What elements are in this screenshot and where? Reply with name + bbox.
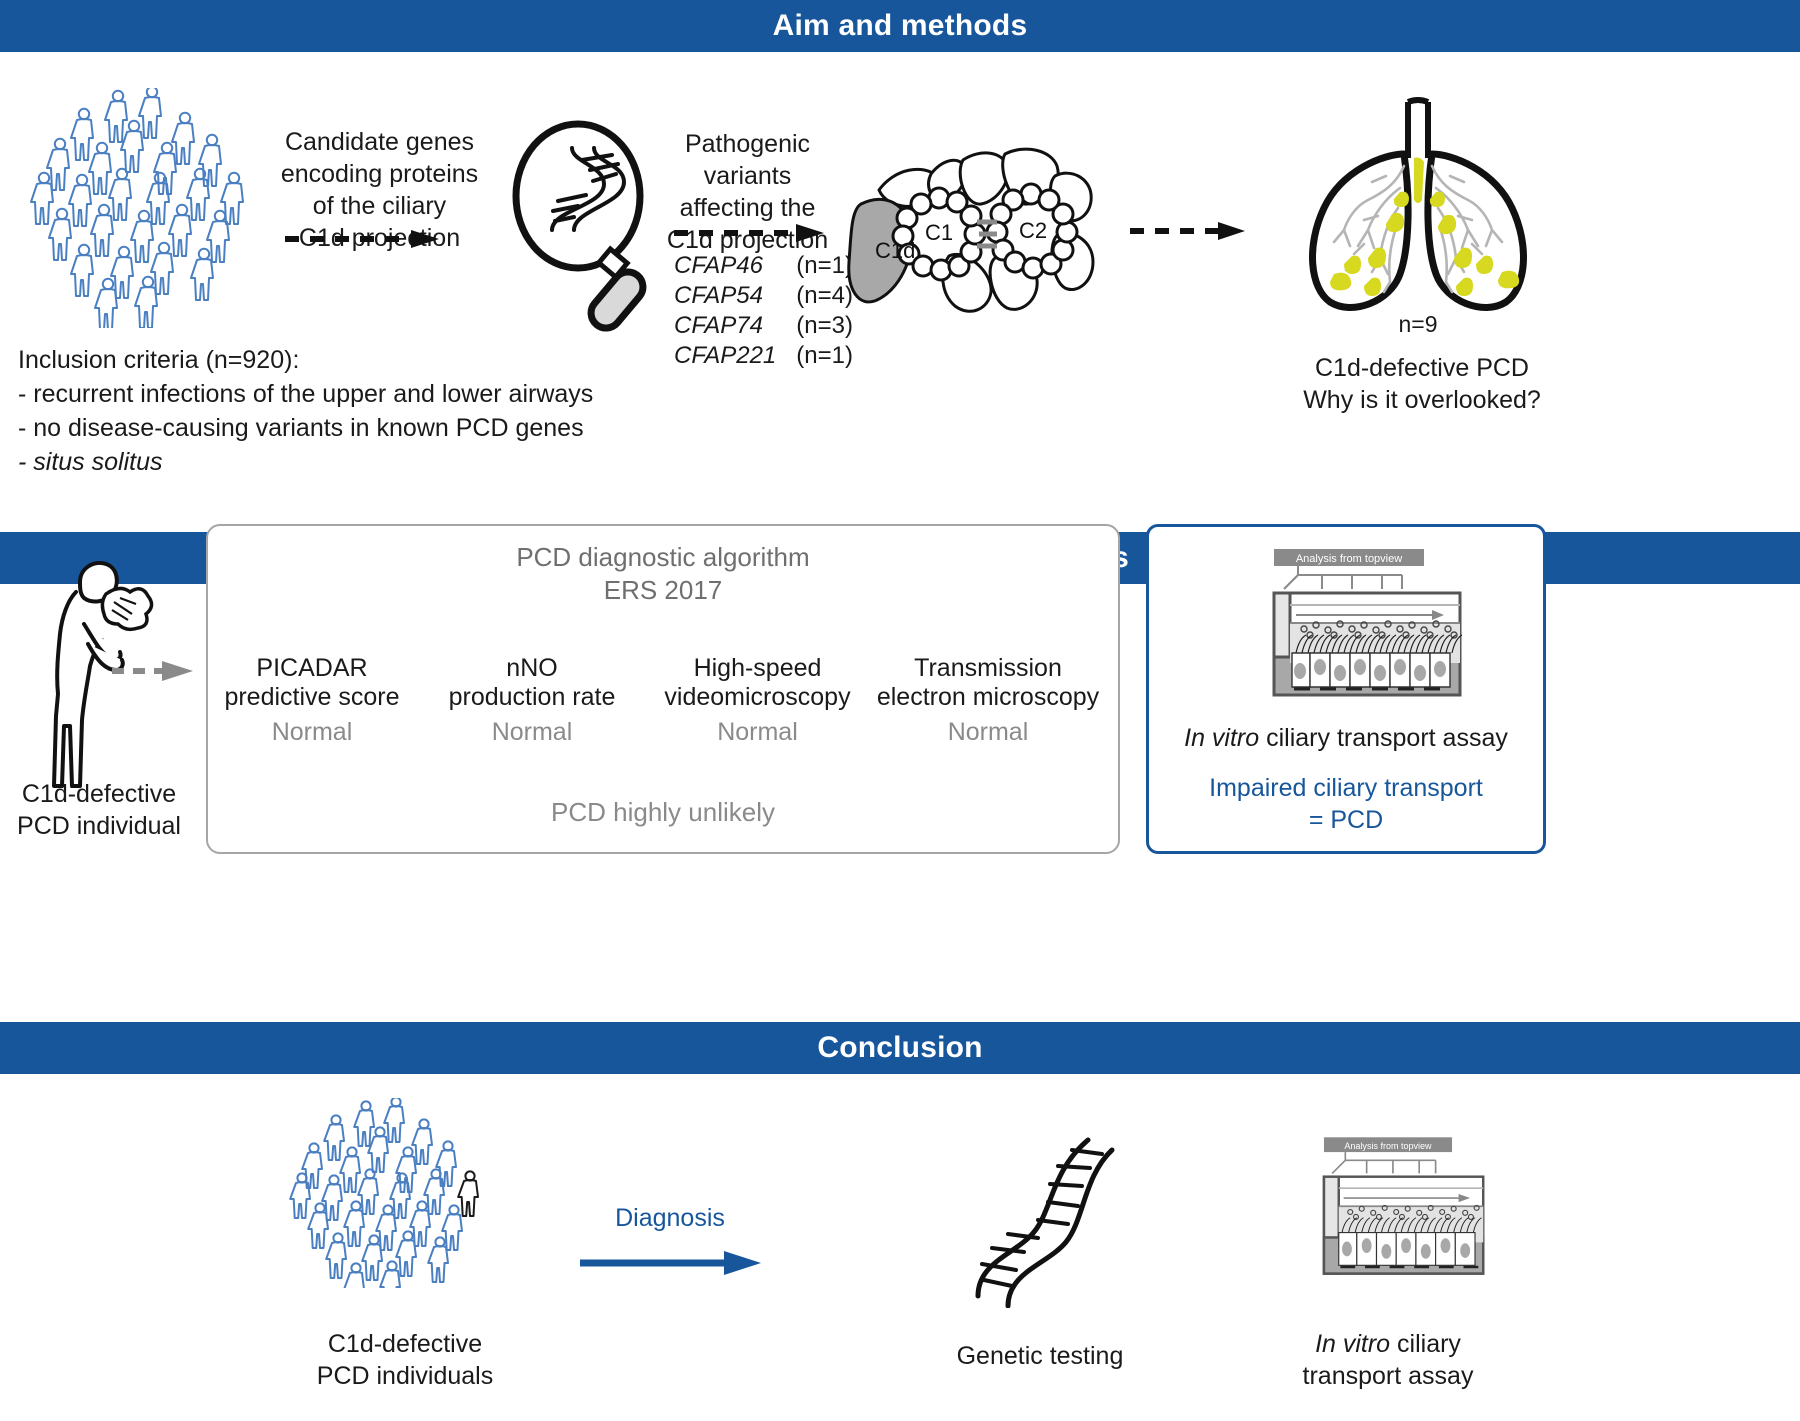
test-result: Normal [650,718,865,747]
lungs-caption: C1d-defective PCD Why is it overlooked? [1222,352,1622,416]
test-name-line-1: High-speed [650,654,865,683]
test-column-tem: Transmission electron microscopy Normal [872,654,1104,747]
candidate-line-3: of the ciliary [272,190,487,222]
patient-caption-line-1: C1d-defective [4,778,194,810]
banner-conclusion: Conclusion [0,1022,1800,1074]
dna-helix-icon [956,1128,1116,1308]
gene-variant-list: CFAP46 (n=1) CFAP54 (n=4) CFAP74 (n=3) C… [674,252,853,372]
assay2-caption-line-2: transport assay [1258,1360,1518,1392]
test-name-line-2: videomicroscopy [650,683,865,712]
central-apparatus-diagram: C1d C1 C2 [845,138,1115,328]
figure-root: Aim and methods [0,0,1800,1421]
inclusion-item: - no disease-causing variants in known P… [18,412,618,444]
assay2-caption-rest: ciliary [1390,1330,1461,1358]
inclusion-item-situs-solitus: - situs solitus [18,446,618,478]
inclusion-criteria-block: Inclusion criteria (n=920): - recurrent … [18,344,618,480]
assay-result: Impaired ciliary transport = PCD [1150,772,1542,836]
algorithm-title: PCD diagnostic algorithm ERS 2017 [206,541,1120,608]
test-column-nno: nNO production rate Normal [432,654,632,747]
banner-conclusion-label: Conclusion [817,1031,982,1065]
test-name-line-2: predictive score [212,683,412,712]
assay-caption-rest: ciliary transport assay [1259,724,1508,752]
pathogenic-line-2: affecting the [640,192,855,224]
dashed-arrow-icon-grey [110,660,195,682]
crowd-caption: C1d-defective PCD individuals [270,1328,540,1392]
test-result: Normal [432,718,632,747]
algorithm-title-line-1: PCD diagnostic algorithm [206,541,1120,574]
inclusion-item: - recurrent infections of the upper and … [18,378,618,410]
crowd-icon-cohort [22,88,282,328]
crowd-caption-line-1: C1d-defective [270,1328,540,1360]
test-name-line-1: Transmission [872,654,1104,683]
gene-name: CFAP46 [674,252,796,282]
genetic-testing-caption: Genetic testing [920,1340,1160,1372]
axoneme-label-c1d: C1d [875,238,915,263]
assay-caption-2: In vitro ciliary transport assay [1258,1328,1518,1392]
gene-row: CFAP221 (n=1) [674,342,853,372]
tissue-icon [102,588,151,629]
test-column-hsvm: High-speed videomicroscopy Normal [650,654,865,747]
diagnosis-arrow-icon [578,1250,763,1276]
assay2-caption-italic: In vitro [1315,1330,1390,1358]
gene-row: CFAP46 (n=1) [674,252,853,282]
banner-aim-and-methods: Aim and methods [0,0,1800,52]
axoneme-label-c2: C2 [1019,218,1047,243]
dashed-arrow-icon-1 [283,228,443,250]
algorithm-title-line-2: ERS 2017 [206,574,1120,607]
candidate-line-2: encoding proteins [272,158,487,190]
lungs-caption-line-1: C1d-defective PCD [1222,352,1622,384]
ciliary-transport-assay-illustration-2: Analysis from topview [1278,1122,1498,1302]
assay-result-line-2: = PCD [1150,804,1542,836]
ciliary-transport-assay-illustration: Analysis from topview [1212,545,1480,710]
dashed-arrow-icon-2 [672,222,827,244]
assay-topview-label-2: Analysis from topview [1344,1141,1432,1151]
algorithm-conclusion: PCD highly unlikely [206,796,1120,829]
test-name-line-1: nNO [432,654,632,683]
gene-count: (n=1) [796,342,853,372]
test-name-line-2: electron microscopy [872,683,1104,712]
patient-caption-line-2: PCD individual [4,810,194,842]
test-result: Normal [212,718,412,747]
pathogenic-line-1: Pathogenic variants [640,128,855,192]
lungs-caption-line-2: Why is it overlooked? [1222,384,1622,416]
gene-row: CFAP54 (n=4) [674,282,853,312]
gene-name: CFAP74 [674,312,796,342]
test-column-picadar: PICADAR predictive score Normal [212,654,412,747]
assay2-caption-line-1: In vitro ciliary [1258,1328,1518,1360]
axoneme-label-c1: C1 [925,220,953,245]
gene-row: CFAP74 (n=3) [674,312,853,342]
assay-caption-italic: In vitro [1184,724,1259,752]
diagnosis-arrow-label: Diagnosis [580,1202,760,1234]
test-name-line-2: production rate [432,683,632,712]
patient-caption: C1d-defective PCD individual [4,778,194,842]
lungs-illustration [1268,96,1568,326]
lungs-sample-count: n=9 [1268,310,1568,339]
test-name-line-1: PICADAR [212,654,412,683]
gene-name: CFAP54 [674,282,796,312]
crowd-caption-line-2: PCD individuals [270,1360,540,1392]
gene-name: CFAP221 [674,342,796,372]
test-result: Normal [872,718,1104,747]
banner-aim-label: Aim and methods [773,9,1028,43]
candidate-line-1: Candidate genes [272,126,487,158]
assay-result-line-1: Impaired ciliary transport [1150,772,1542,804]
assay-caption: In vitro ciliary transport assay [1150,722,1542,754]
dashed-arrow-icon-3 [1128,220,1248,242]
inclusion-title: Inclusion criteria (n=920): [18,344,618,376]
crowd-icon-diagnosed [288,1098,518,1288]
assay-topview-label: Analysis from topview [1296,553,1402,565]
